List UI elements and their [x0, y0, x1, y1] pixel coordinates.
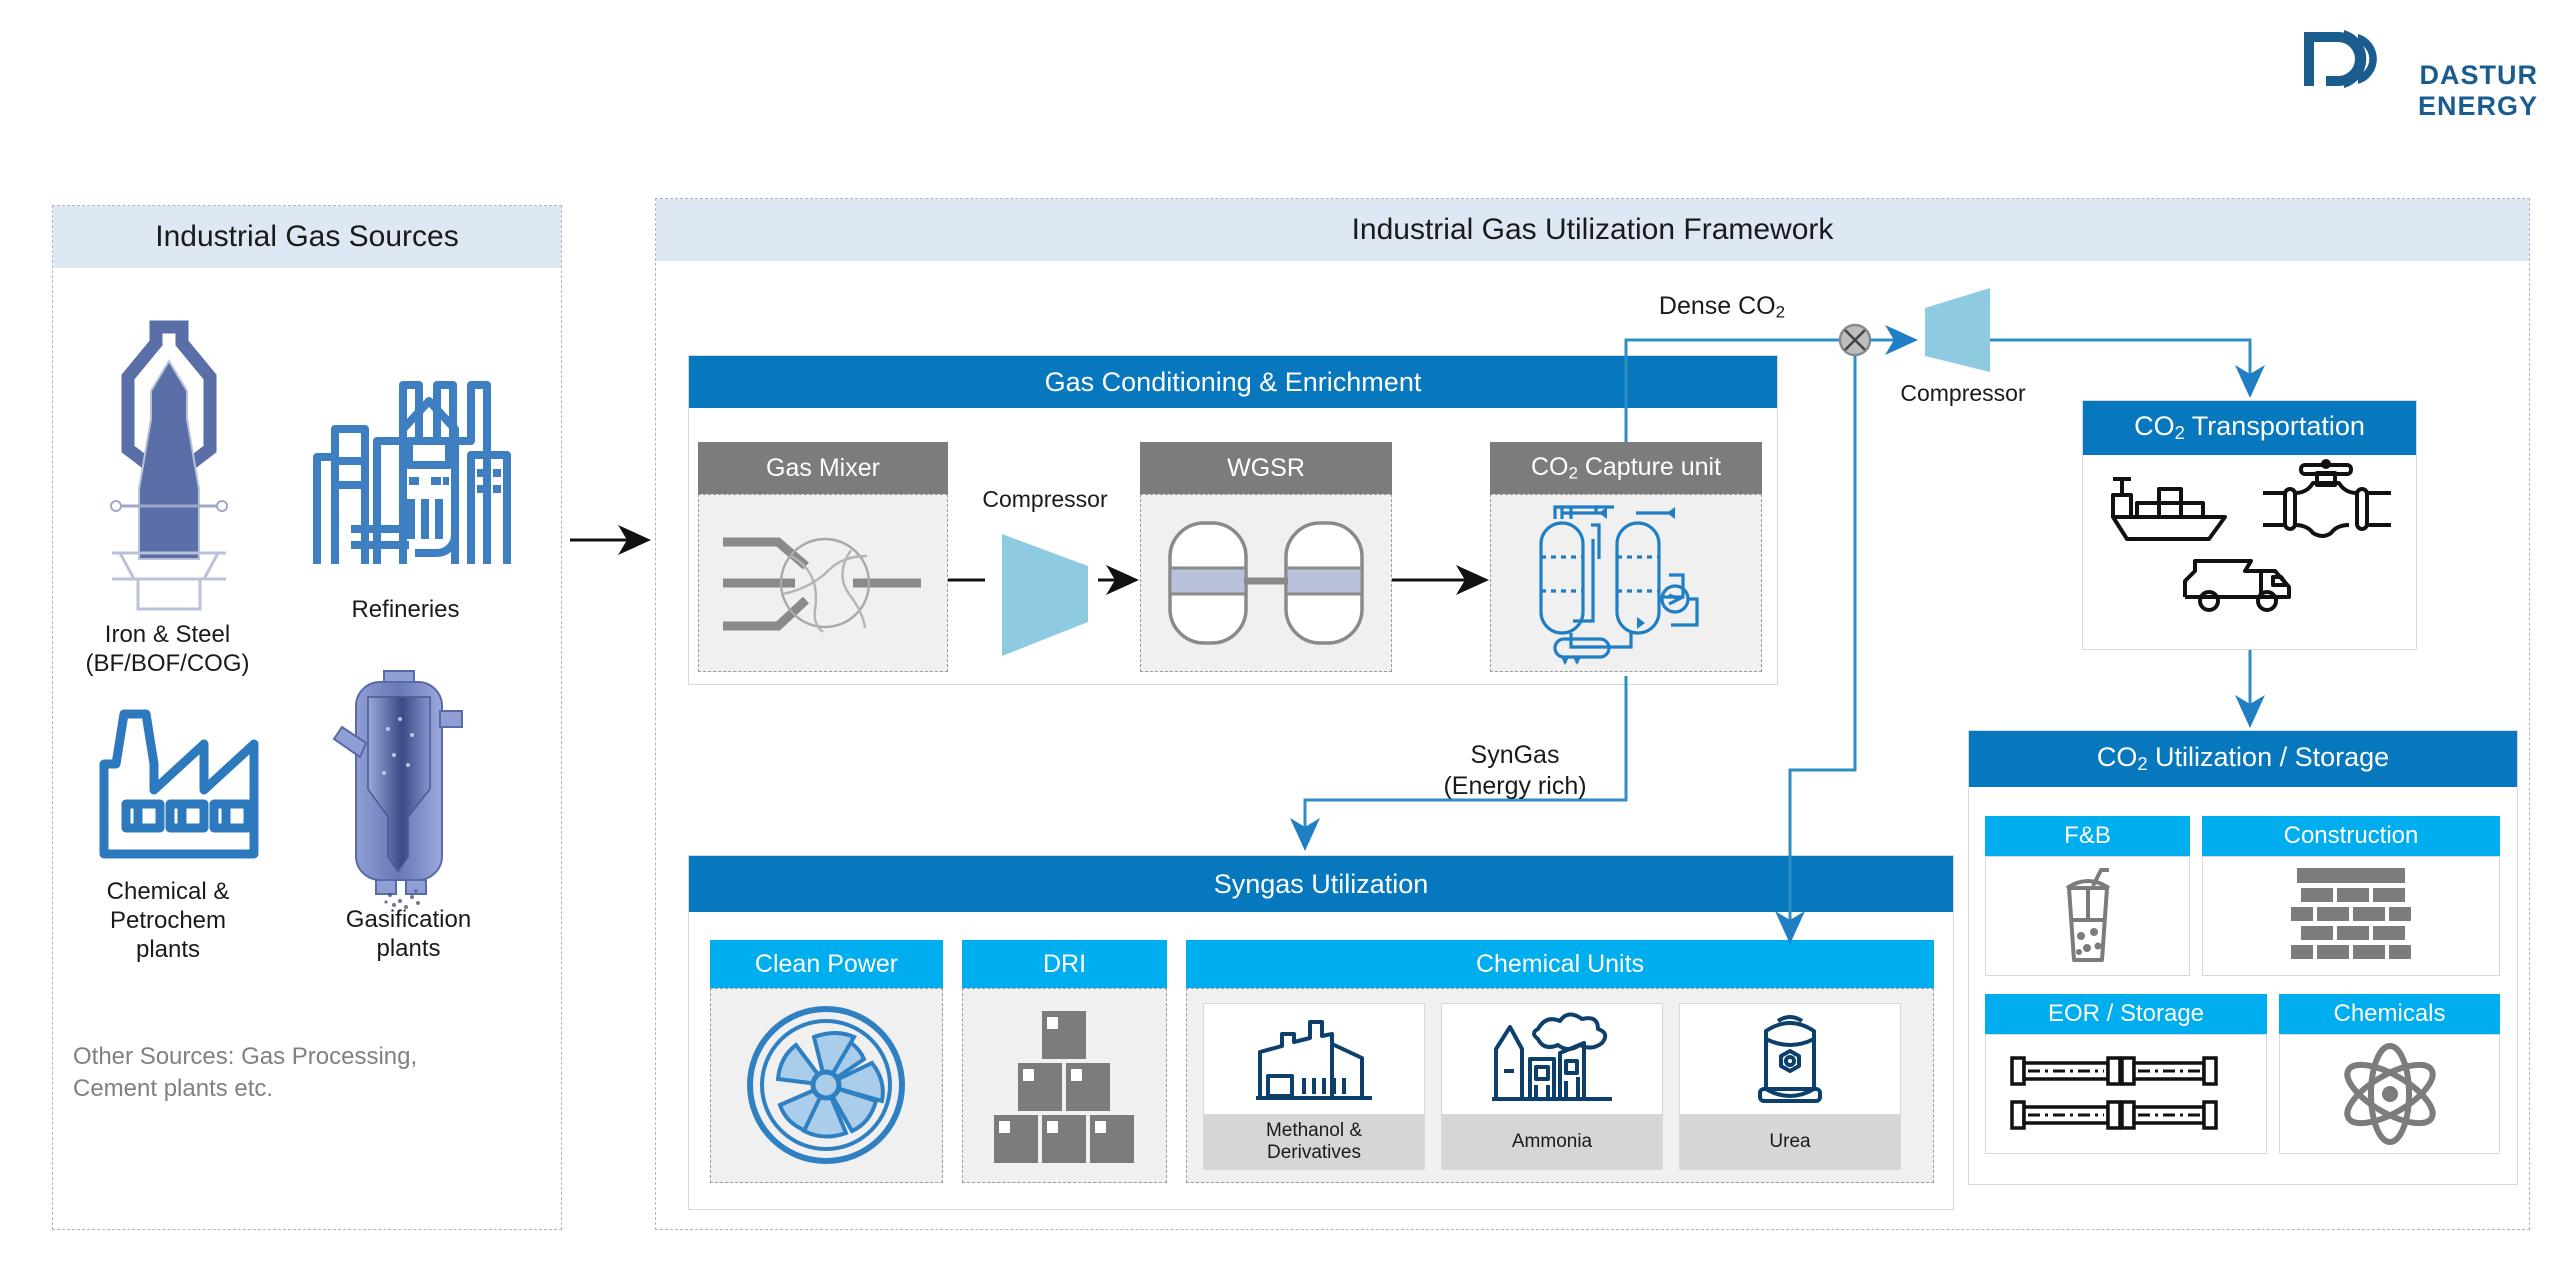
pipeline-valve-icon [2261, 463, 2393, 541]
wgsr-title: WGSR [1140, 442, 1392, 494]
co2-transportation-box: CO2 Transportation [2082, 400, 2417, 650]
urea-container-icon [1680, 1004, 1900, 1114]
beverage-cup-icon [1985, 856, 2190, 976]
pipeline-rows-icon [1985, 1034, 2267, 1154]
methanol-caption: Methanol & Derivatives [1204, 1114, 1424, 1170]
brick-wall-icon [2202, 856, 2500, 976]
source-label-refineries: Refineries [298, 596, 513, 625]
atom-icon [2279, 1034, 2500, 1154]
co2-capture-title: CO2 Capture unit [1490, 442, 1762, 494]
gas-mixer-icon [698, 494, 948, 672]
clean-power-title: Clean Power [710, 940, 943, 988]
eor-storage-title: EOR / Storage [1985, 994, 2267, 1034]
unit-co2-capture: CO2 Capture unit [1490, 442, 1762, 672]
compressor-2-label: Compressor [1878, 380, 2048, 407]
dense-co2-label: Dense CO2 [1622, 292, 1822, 323]
compressor-1-label: Compressor [960, 486, 1130, 522]
tile-urea: Urea [1679, 1003, 1901, 1169]
source-label-chemical-petrochem: Chemical & Petrochem plants [63, 878, 273, 964]
chemicals-title: Chemicals [2279, 994, 2500, 1034]
unit-gas-mixer: Gas Mixer [698, 442, 948, 672]
dastur-energy-logo: DASTUR ENERGY [2298, 28, 2538, 120]
wgsr-vessels-icon [1140, 494, 1392, 672]
syngas-label: SynGas (Energy rich) [1400, 740, 1630, 803]
refinery-icon [291, 361, 521, 586]
tile-dri: DRI [962, 940, 1167, 1183]
syngas-utilization-title: Syngas Utilization [689, 856, 1953, 912]
gas-mixer-title: Gas Mixer [698, 442, 948, 494]
industrial-gas-sources-panel: Industrial Gas Sources [52, 205, 562, 1230]
sources-footnote: Other Sources: Gas Processing, Cement pl… [73, 1041, 543, 1106]
co2-transportation-title: CO2 Transportation [2083, 401, 2416, 455]
co2-utilization-title: CO2 Utilization / Storage [1969, 731, 2517, 787]
framework-panel-title: Industrial Gas Utilization Framework [656, 199, 2529, 261]
blast-furnace-icon [71, 316, 266, 616]
tile-ammonia: Ammonia [1441, 1003, 1663, 1169]
dri-title: DRI [962, 940, 1167, 988]
unit-wgsr: WGSR [1140, 442, 1392, 672]
gasifier-vessel-icon [303, 666, 503, 911]
factory-icon [83, 696, 283, 876]
chemical-units-title: Chemical Units [1186, 940, 1934, 988]
tile-clean-power: Clean Power [710, 940, 943, 1183]
chemical-units-body: Methanol & Derivatives [1186, 988, 1934, 1183]
logo-text-energy: ENERGY [2418, 93, 2538, 120]
co2-utilization-storage-box: CO2 Utilization / Storage F&B Constructi… [1968, 730, 2518, 1185]
sources-panel-title: Industrial Gas Sources [53, 206, 561, 268]
turbine-fan-icon [710, 988, 943, 1183]
group-chemical-units: Chemical Units Methanol & Derivatives [1186, 940, 1934, 1183]
co2-capture-icon [1490, 494, 1762, 672]
gas-conditioning-title: Gas Conditioning & Enrichment [689, 356, 1777, 408]
ammonia-caption: Ammonia [1442, 1114, 1662, 1170]
compressor-1: Compressor [960, 486, 1130, 676]
co2-capture-title-text: CO2 Capture unit [1531, 453, 1721, 484]
dastur-d-logo-icon [2298, 28, 2390, 90]
urea-caption: Urea [1680, 1114, 1900, 1170]
source-label-gasification: Gasification plants [301, 906, 516, 964]
ammonia-plant-icon [1442, 1004, 1662, 1114]
compressor-trapezoid-icon [992, 530, 1098, 660]
logo-text-dastur: DASTUR [2418, 62, 2538, 89]
chemical-plant-icon [1204, 1004, 1424, 1114]
fnb-title: F&B [1985, 816, 2190, 856]
cargo-ship-icon [2107, 469, 2232, 541]
dump-truck-icon [2181, 551, 2301, 613]
tile-methanol: Methanol & Derivatives [1203, 1003, 1425, 1169]
construction-title: Construction [2202, 816, 2500, 856]
source-label-iron-steel: Iron & Steel (BF/BOF/COG) [65, 621, 270, 679]
dri-briquettes-icon [962, 988, 1167, 1183]
